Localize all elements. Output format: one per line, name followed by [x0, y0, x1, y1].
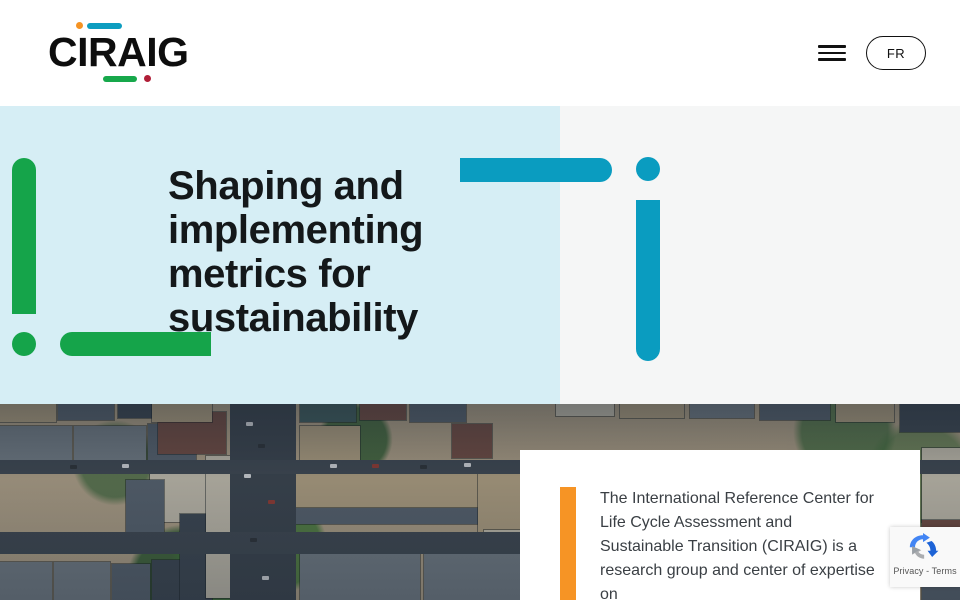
intro-paragraph: The International Reference Center for L… — [600, 487, 880, 600]
site-header: CIRAIG FR — [0, 0, 960, 106]
rooftop — [690, 404, 754, 418]
vehicle — [246, 422, 253, 426]
hamburger-line — [818, 52, 846, 55]
hamburger-line — [818, 45, 846, 48]
rooftop — [0, 562, 52, 600]
logo-red-dot-icon — [144, 75, 151, 82]
decoration-blue-vertical-bar — [636, 200, 660, 361]
header-actions: FR — [818, 0, 926, 106]
vehicle — [420, 465, 427, 469]
rooftop — [58, 404, 114, 420]
rooftop — [900, 404, 960, 432]
rooftop — [126, 480, 164, 532]
vehicle — [330, 464, 337, 468]
rooftop — [206, 456, 232, 598]
rooftop — [556, 404, 614, 416]
rooftop — [296, 508, 478, 524]
rooftop — [152, 404, 212, 422]
rooftop — [300, 426, 360, 460]
rooftop — [0, 404, 56, 422]
street-vertical — [230, 404, 296, 600]
vehicle — [122, 464, 129, 468]
vehicle — [244, 474, 251, 478]
rooftop — [112, 564, 150, 600]
rooftop — [300, 404, 356, 422]
recaptcha-terms-label[interactable]: Privacy - Terms — [890, 566, 960, 576]
vehicle — [258, 444, 265, 448]
logo-blue-bar-icon — [87, 23, 122, 29]
rooftop — [300, 554, 420, 600]
hero-right-panel — [560, 106, 960, 404]
logo-orange-dot-icon — [76, 22, 83, 29]
decoration-green-circle — [12, 332, 36, 356]
rooftop — [54, 562, 110, 600]
logo-wordmark: CIRAIG — [48, 32, 189, 73]
decoration-green-vertical-bar — [12, 158, 36, 314]
intro-accent-bar — [560, 487, 576, 600]
vehicle — [262, 576, 269, 580]
rooftop — [452, 424, 492, 458]
rooftop — [836, 404, 894, 422]
rooftop — [760, 404, 830, 420]
vehicle — [70, 465, 77, 469]
hero-banner: Shaping and implementing metrics for sus… — [0, 106, 960, 404]
intro-card: The International Reference Center for L… — [520, 450, 920, 600]
rooftop — [360, 404, 406, 420]
hero-title: Shaping and implementing metrics for sus… — [168, 164, 498, 340]
language-switch-button[interactable]: FR — [866, 36, 926, 70]
decoration-blue-circle — [636, 157, 660, 181]
site-logo[interactable]: CIRAIG — [48, 22, 192, 84]
rooftop — [620, 404, 684, 418]
hamburger-line — [818, 58, 846, 61]
hamburger-menu-icon[interactable] — [818, 42, 846, 64]
vehicle — [464, 463, 471, 467]
vehicle — [268, 500, 275, 504]
rooftop — [410, 404, 466, 422]
recaptcha-badge[interactable]: Privacy - Terms — [890, 527, 960, 587]
logo-green-bar-icon — [103, 76, 137, 82]
vehicle — [250, 538, 257, 542]
vehicle — [372, 464, 379, 468]
recaptcha-icon — [904, 533, 942, 565]
